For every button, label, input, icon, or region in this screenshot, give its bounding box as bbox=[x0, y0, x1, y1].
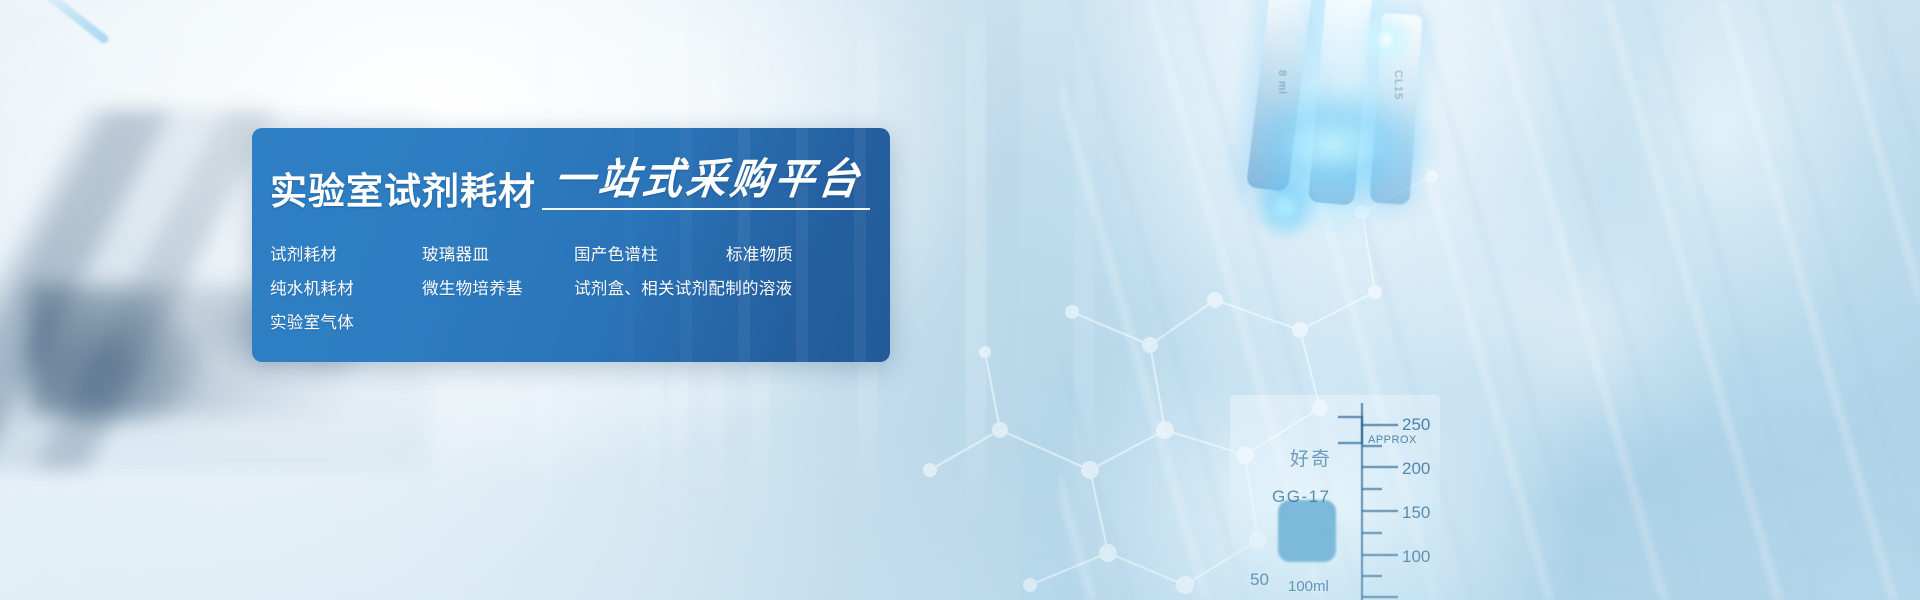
beaker-grad-150: 150 bbox=[1402, 503, 1430, 523]
beaker-grad-100: 100 bbox=[1402, 547, 1430, 567]
category-link-microbial-culture-media[interactable]: 微生物培养基 bbox=[422, 281, 574, 298]
headline-main-text: 实验室试剂耗材 bbox=[270, 173, 536, 210]
category-link-list: 试剂耗材 玻璃器皿 国产色谱柱 标准物质 纯水机耗材 微生物培养基 试剂盒、相关… bbox=[270, 238, 890, 340]
category-link-laboratory-gas[interactable]: 实验室气体 bbox=[270, 315, 422, 332]
beaker-grad-200: 200 bbox=[1402, 459, 1430, 479]
headline-accent-group: 一站式采购平台 bbox=[542, 161, 864, 210]
category-link-reagent-kits-solutions[interactable]: 试剂盒、相关试剂配制的溶液 bbox=[574, 281, 792, 298]
beaker-capacity-label: 100ml bbox=[1288, 578, 1329, 595]
category-link-glassware[interactable]: 玻璃器皿 bbox=[422, 247, 574, 264]
test-tube-highlight bbox=[1250, 172, 1320, 242]
test-tube-sparkle bbox=[1356, 10, 1416, 70]
beaker-liquid-patch bbox=[1278, 500, 1336, 562]
beaker-grad-50: 50 bbox=[1250, 570, 1269, 590]
headline-underline bbox=[542, 208, 870, 210]
category-row: 实验室气体 bbox=[270, 306, 890, 340]
beaker-grad-250: 250 bbox=[1402, 415, 1430, 435]
category-row: 试剂耗材 玻璃器皿 国产色谱柱 标准物质 bbox=[270, 238, 890, 272]
beaker-model-label: GG-17 bbox=[1272, 487, 1331, 507]
beaker-approx-label: APPROX bbox=[1368, 434, 1417, 446]
headline-group: 实验室试剂耗材 一站式采购平台 bbox=[270, 154, 890, 210]
headline-accent-text: 一站式采购平台 bbox=[552, 159, 865, 201]
category-link-water-purifier-consumables[interactable]: 纯水机耗材 bbox=[270, 281, 422, 298]
category-link-reagent-consumables[interactable]: 试剂耗材 bbox=[270, 247, 422, 264]
category-link-domestic-chromatography-column[interactable]: 国产色谱柱 bbox=[574, 247, 726, 264]
category-link-reference-material[interactable]: 标准物质 bbox=[726, 247, 793, 264]
lab-supplies-banner: 8 ml CL15 250 APPROX 200 150 100 50 bbox=[0, 0, 1920, 600]
promo-panel: 实验室试剂耗材 一站式采购平台 试剂耗材 玻璃器皿 国产色谱柱 标准物质 纯水机… bbox=[252, 128, 890, 362]
beaker-brand-label: 好奇 bbox=[1290, 444, 1332, 471]
category-row: 纯水机耗材 微生物培养基 试剂盒、相关试剂配制的溶液 bbox=[270, 272, 890, 306]
